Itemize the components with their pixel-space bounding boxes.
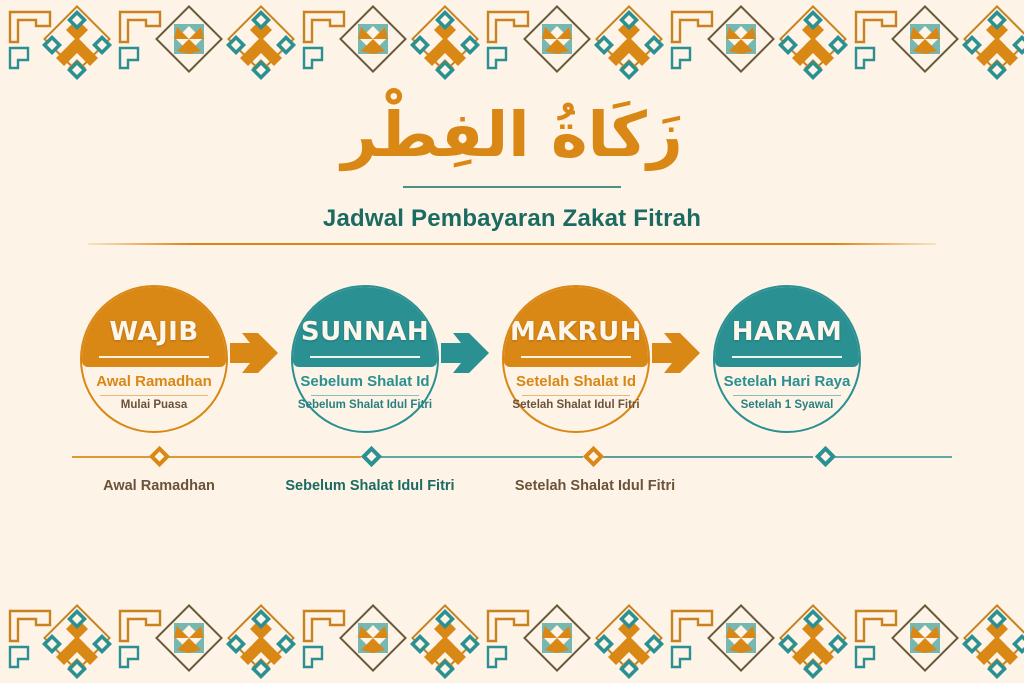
flow-arrow-2 [439, 331, 499, 375]
timeline-marker-1[interactable] [149, 446, 170, 467]
flow-node-wajib[interactable]: WAJIB Awal Ramadhan Mulai Puasa [80, 285, 232, 435]
node-subtitle: Sebelum Shalat Id [285, 373, 445, 390]
timeline-segment-1 [72, 456, 152, 458]
node-dome: SUNNAH [293, 287, 437, 367]
flow-arrow-3 [650, 331, 710, 375]
node-title-underline [732, 356, 841, 358]
node-subtitle-rule [522, 395, 630, 396]
arabic-title: زَكَاةُ الفِطْر [0, 96, 1024, 174]
zakat-timing-flow: WAJIB Awal Ramadhan Mulai Puasa SUNNAH S… [0, 285, 1024, 445]
node-note: Sebelum Shalat Idul Fitri [277, 399, 453, 411]
poster-canvas: زَكَاةُ الفِطْر Jadwal Pembayaran Zakat … [0, 0, 1024, 683]
timeline-segment-2 [167, 456, 361, 458]
arrow-right-icon [228, 331, 288, 375]
node-subtitle-rule [100, 395, 208, 396]
node-title: SUNNAH [293, 317, 437, 347]
timeline-segment-5 [832, 456, 952, 458]
timeline-label-2: Sebelum Shalat Idul Fitri [250, 478, 490, 494]
flow-node-sunnah[interactable]: SUNNAH Sebelum Shalat Id Sebelum Shalat … [291, 285, 443, 435]
node-subtitle-rule [733, 395, 841, 396]
flow-node-makruh[interactable]: MAKRUH Setelah Shalat Id Setelah Shalat … [502, 285, 654, 435]
node-title-underline [521, 356, 630, 358]
node-subtitle-rule [311, 395, 419, 396]
bottom-border-ornament [0, 601, 1024, 681]
node-note: Setelah Shalat Idul Fitri [488, 399, 664, 411]
arrow-right-icon [439, 331, 499, 375]
node-dome: MAKRUH [504, 287, 648, 367]
node-title-underline [99, 356, 208, 358]
node-subtitle: Awal Ramadhan [74, 373, 234, 390]
node-dome: HARAM [715, 287, 859, 367]
timeline-label-1: Awal Ramadhan [39, 478, 279, 494]
timeline-segment-4 [600, 456, 813, 458]
flow-node-haram[interactable]: HARAM Setelah Hari Raya Setelah 1 Syawal [713, 285, 865, 435]
node-note: Setelah 1 Syawal [699, 399, 875, 411]
node-subtitle: Setelah Shalat Id [496, 373, 656, 390]
node-dome: WAJIB [82, 287, 226, 367]
arabic-title-underline [403, 186, 621, 188]
bottom-border-svg [0, 601, 1024, 681]
timeline-marker-3[interactable] [583, 446, 604, 467]
node-note: Mulai Puasa [66, 399, 242, 411]
node-title: MAKRUH [504, 317, 648, 347]
arrow-right-icon [650, 331, 710, 375]
node-subtitle: Setelah Hari Raya [707, 373, 867, 390]
node-title: HARAM [715, 317, 859, 347]
top-border-svg [0, 2, 1024, 82]
timeline-marker-2[interactable] [361, 446, 382, 467]
flow-arrow-1 [228, 331, 288, 375]
timeline-segment-3 [378, 456, 583, 458]
node-title: WAJIB [82, 317, 226, 347]
node-title-underline [310, 356, 419, 358]
header-divider [88, 243, 936, 245]
page-subtitle: Jadwal Pembayaran Zakat Fitrah [0, 205, 1024, 233]
timeline-label-3: Setelah Shalat Idul Fitri [475, 478, 715, 494]
top-border-ornament [0, 2, 1024, 82]
timeline-marker-4[interactable] [815, 446, 836, 467]
